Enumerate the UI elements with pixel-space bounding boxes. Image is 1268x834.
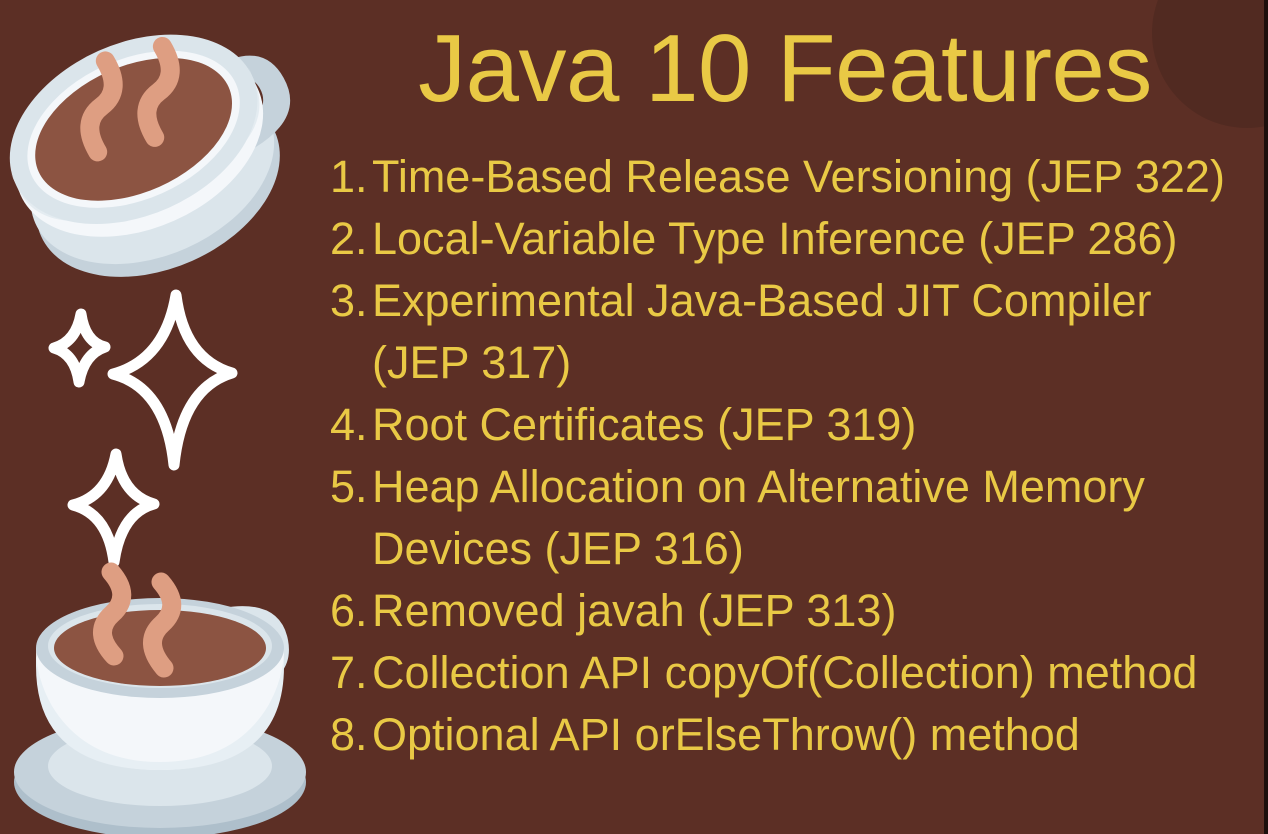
features-list: 1. Time-Based Release Versioning (JEP 32…: [330, 146, 1250, 766]
sparkle-stars-icon: [34, 282, 274, 582]
list-item-number: 1.: [330, 146, 372, 208]
list-item: 8. Optional API orElseThrow() method: [330, 704, 1250, 766]
list-item-label: Experimental Java-Based JIT Compiler (JE…: [372, 270, 1250, 394]
list-item-label: Removed javah (JEP 313): [372, 580, 1250, 642]
list-item-label: Collection API copyOf(Collection) method: [372, 642, 1250, 704]
coffee-cup-on-saucer-icon: [8, 556, 318, 834]
tilted-coffee-cup-icon: [0, 0, 318, 286]
list-item-number: 6.: [330, 580, 372, 642]
list-item: 3. Experimental Java-Based JIT Compiler …: [330, 270, 1250, 394]
list-item-number: 7.: [330, 642, 372, 704]
list-item-number: 8.: [330, 704, 372, 766]
list-item: 5. Heap Allocation on Alternative Memory…: [330, 456, 1250, 580]
list-item: 6. Removed javah (JEP 313): [330, 580, 1250, 642]
poster-canvas: Java 10 Features 1. Time-Based Release V…: [0, 0, 1268, 834]
right-edge-strip: [1264, 0, 1268, 834]
list-item-number: 5.: [330, 456, 372, 518]
illustration-column: [0, 0, 330, 834]
list-item-label: Root Certificates (JEP 319): [372, 394, 1250, 456]
list-item: 2. Local-Variable Type Inference (JEP 28…: [330, 208, 1250, 270]
list-item: 1. Time-Based Release Versioning (JEP 32…: [330, 146, 1250, 208]
page-title: Java 10 Features: [330, 18, 1240, 120]
list-item-label: Optional API orElseThrow() method: [372, 704, 1250, 766]
list-item: 4. Root Certificates (JEP 319): [330, 394, 1250, 456]
list-item-label: Time-Based Release Versioning (JEP 322): [372, 146, 1250, 208]
list-item-label: Heap Allocation on Alternative Memory De…: [372, 456, 1250, 580]
list-item-number: 2.: [330, 208, 372, 270]
list-item-number: 3.: [330, 270, 372, 332]
list-item-label: Local-Variable Type Inference (JEP 286): [372, 208, 1250, 270]
list-item-number: 4.: [330, 394, 372, 456]
list-item: 7. Collection API copyOf(Collection) met…: [330, 642, 1250, 704]
